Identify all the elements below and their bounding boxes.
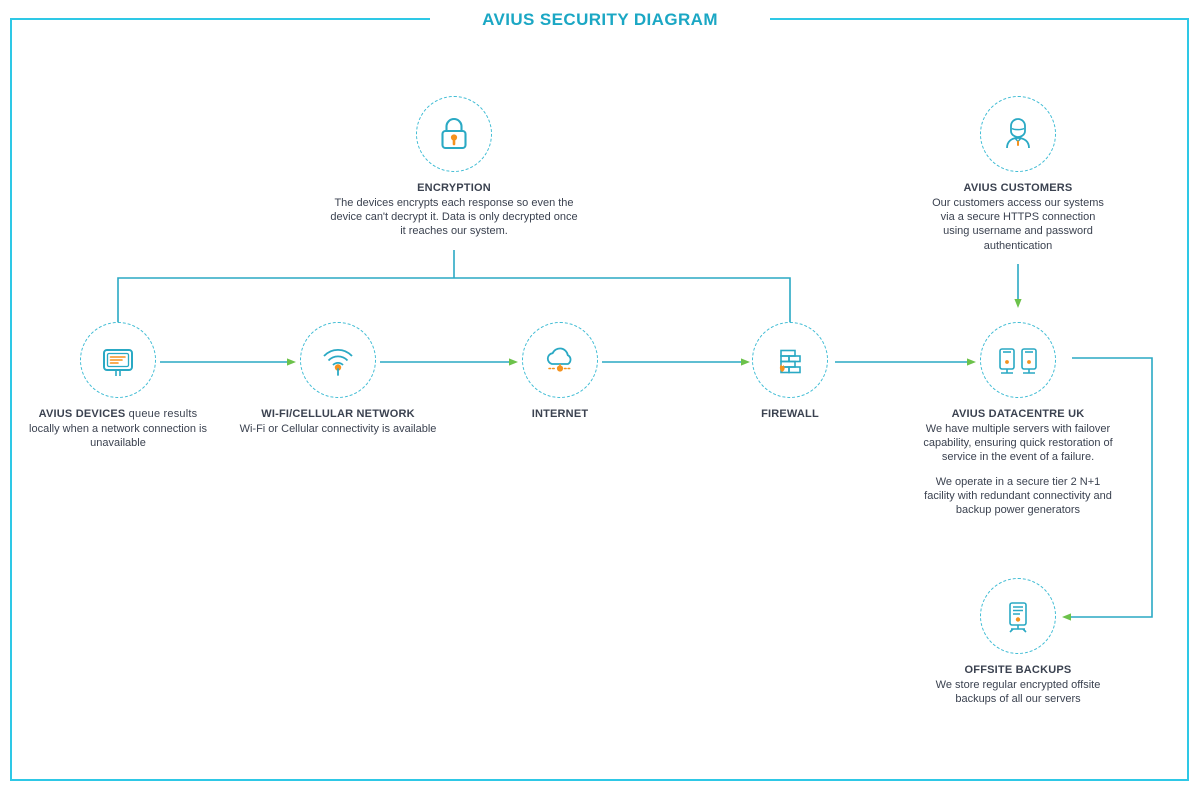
- backups-circle: [980, 578, 1056, 654]
- datacentre-circle: [980, 322, 1056, 398]
- backups-title: OFFSITE BACKUPS: [928, 663, 1108, 677]
- firewall-title: FIREWALL: [722, 407, 858, 421]
- node-datacentre: AVIUS DATACENTRE UK We have multiple ser…: [920, 322, 1116, 517]
- server-tower-icon: [996, 594, 1040, 638]
- cloud-icon: [538, 338, 582, 382]
- network-description: Wi-Fi or Cellular connectivity is availa…: [238, 422, 438, 436]
- devices-title-rest: queue results: [125, 408, 197, 420]
- devices-circle: [80, 322, 156, 398]
- node-customers: AVIUS CUSTOMERS Our customers access our…: [928, 96, 1108, 253]
- datacentre-description-2: We operate in a secure tier 2 N+1 facili…: [920, 475, 1116, 517]
- encryption-description: The devices encrypts each response so ev…: [330, 196, 578, 238]
- customers-title: AVIUS CUSTOMERS: [928, 181, 1108, 195]
- servers-icon: [992, 338, 1044, 382]
- node-network: WI-FI/CELLULAR NETWORK Wi-Fi or Cellular…: [238, 322, 438, 436]
- node-encryption: ENCRYPTION The devices encrypts each res…: [330, 96, 578, 239]
- node-devices: AVIUS DEVICES queue results locally when…: [22, 322, 214, 450]
- diagram-title-container: AVIUS SECURITY DIAGRAM: [430, 4, 770, 36]
- brick-wall-flame-icon: [768, 338, 812, 382]
- network-circle: [300, 322, 376, 398]
- wifi-icon: [316, 338, 360, 382]
- devices-title: AVIUS DEVICES queue results: [22, 407, 214, 421]
- node-backups: OFFSITE BACKUPS We store regular encrypt…: [928, 578, 1108, 706]
- padlock-icon: [432, 112, 476, 156]
- backups-description: We store regular encrypted offsite backu…: [928, 678, 1108, 706]
- person-icon: [996, 112, 1040, 156]
- datacentre-title: AVIUS DATACENTRE UK: [920, 407, 1116, 421]
- node-internet: INTERNET: [490, 322, 630, 421]
- customers-circle: [980, 96, 1056, 172]
- datacentre-description-1: We have multiple servers with failover c…: [920, 422, 1116, 464]
- kiosk-screen-icon: [96, 338, 140, 382]
- internet-circle: [522, 322, 598, 398]
- devices-title-bold: AVIUS DEVICES: [39, 408, 126, 420]
- page-title: AVIUS SECURITY DIAGRAM: [482, 10, 718, 30]
- firewall-circle: [752, 322, 828, 398]
- encryption-title: ENCRYPTION: [330, 181, 578, 195]
- internet-title: INTERNET: [490, 407, 630, 421]
- node-firewall: FIREWALL: [722, 322, 858, 421]
- customers-description: Our customers access our systems via a s…: [928, 196, 1108, 252]
- security-diagram-page: AVIUS SECURITY DIAGRAM: [0, 0, 1200, 793]
- encryption-circle: [416, 96, 492, 172]
- devices-description: locally when a network connection is una…: [22, 422, 214, 450]
- network-title: WI-FI/CELLULAR NETWORK: [238, 407, 438, 421]
